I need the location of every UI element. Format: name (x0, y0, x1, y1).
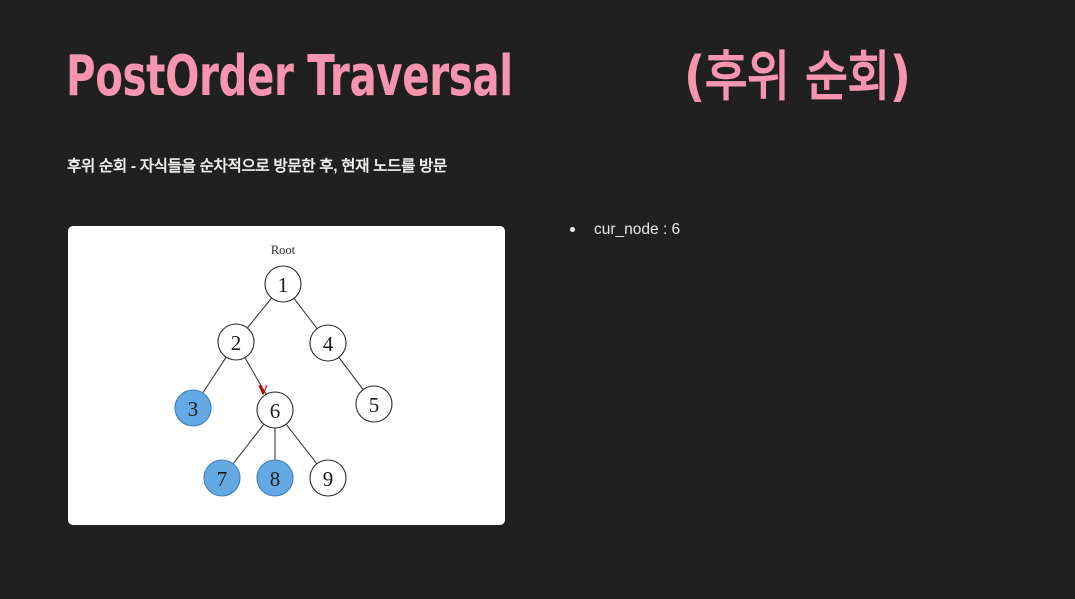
tree-node-label: 2 (231, 331, 242, 355)
tree-diagram-panel: 124365789 Root v (68, 226, 505, 525)
tree-node-5: 5 (356, 386, 392, 422)
tree-edge (233, 424, 264, 464)
page-title: PostOrder Traversal(후위 순회) (66, 46, 948, 108)
tree-node-7: 7 (204, 460, 240, 496)
slide-canvas: PostOrder Traversal(후위 순회) 후위 순회 - 자식들을 … (0, 0, 1075, 599)
tree-diagram-svg: 124365789 Root v (68, 226, 505, 525)
tree-node-2: 2 (218, 324, 254, 360)
tree-node-3: 3 (175, 390, 211, 426)
list-item: cur_node : 6 (556, 216, 976, 244)
tree-edge (203, 357, 226, 393)
tree-node-1: 1 (265, 266, 301, 302)
tree-edge (339, 357, 363, 389)
tree-node-label: 4 (323, 332, 334, 356)
tree-node-label: 7 (217, 467, 228, 491)
list-item-label: cur_node : 6 (594, 221, 680, 238)
tree-node-label: 9 (323, 467, 334, 491)
tree-node-layer: 124365789 (175, 266, 392, 496)
tree-node-label: 6 (270, 399, 281, 423)
bullet-list: cur_node : 6 (556, 216, 976, 244)
tree-node-4: 4 (310, 325, 346, 361)
tree-edge (286, 424, 317, 464)
tree-node-label: 8 (270, 467, 281, 491)
bullet-dot-icon (570, 227, 575, 232)
tree-node-8: 8 (257, 460, 293, 496)
subtitle-text: 후위 순회 - 자식들을 순차적으로 방문한 후, 현재 노드를 방문 (67, 154, 447, 176)
tree-edge (247, 298, 271, 328)
tree-node-9: 9 (310, 460, 346, 496)
tree-node-label: 3 (188, 397, 199, 421)
tree-edge (294, 298, 317, 328)
tree-node-label: 5 (369, 393, 380, 417)
tree-node-label: 1 (278, 273, 289, 297)
page-title-latin: PostOrder Traversal (66, 46, 513, 108)
page-title-hangul: (후위 순회) (684, 46, 911, 108)
current-node-marker-icon: v (258, 379, 268, 400)
tree-edge-layer (203, 298, 363, 464)
root-label: Root (271, 243, 296, 257)
